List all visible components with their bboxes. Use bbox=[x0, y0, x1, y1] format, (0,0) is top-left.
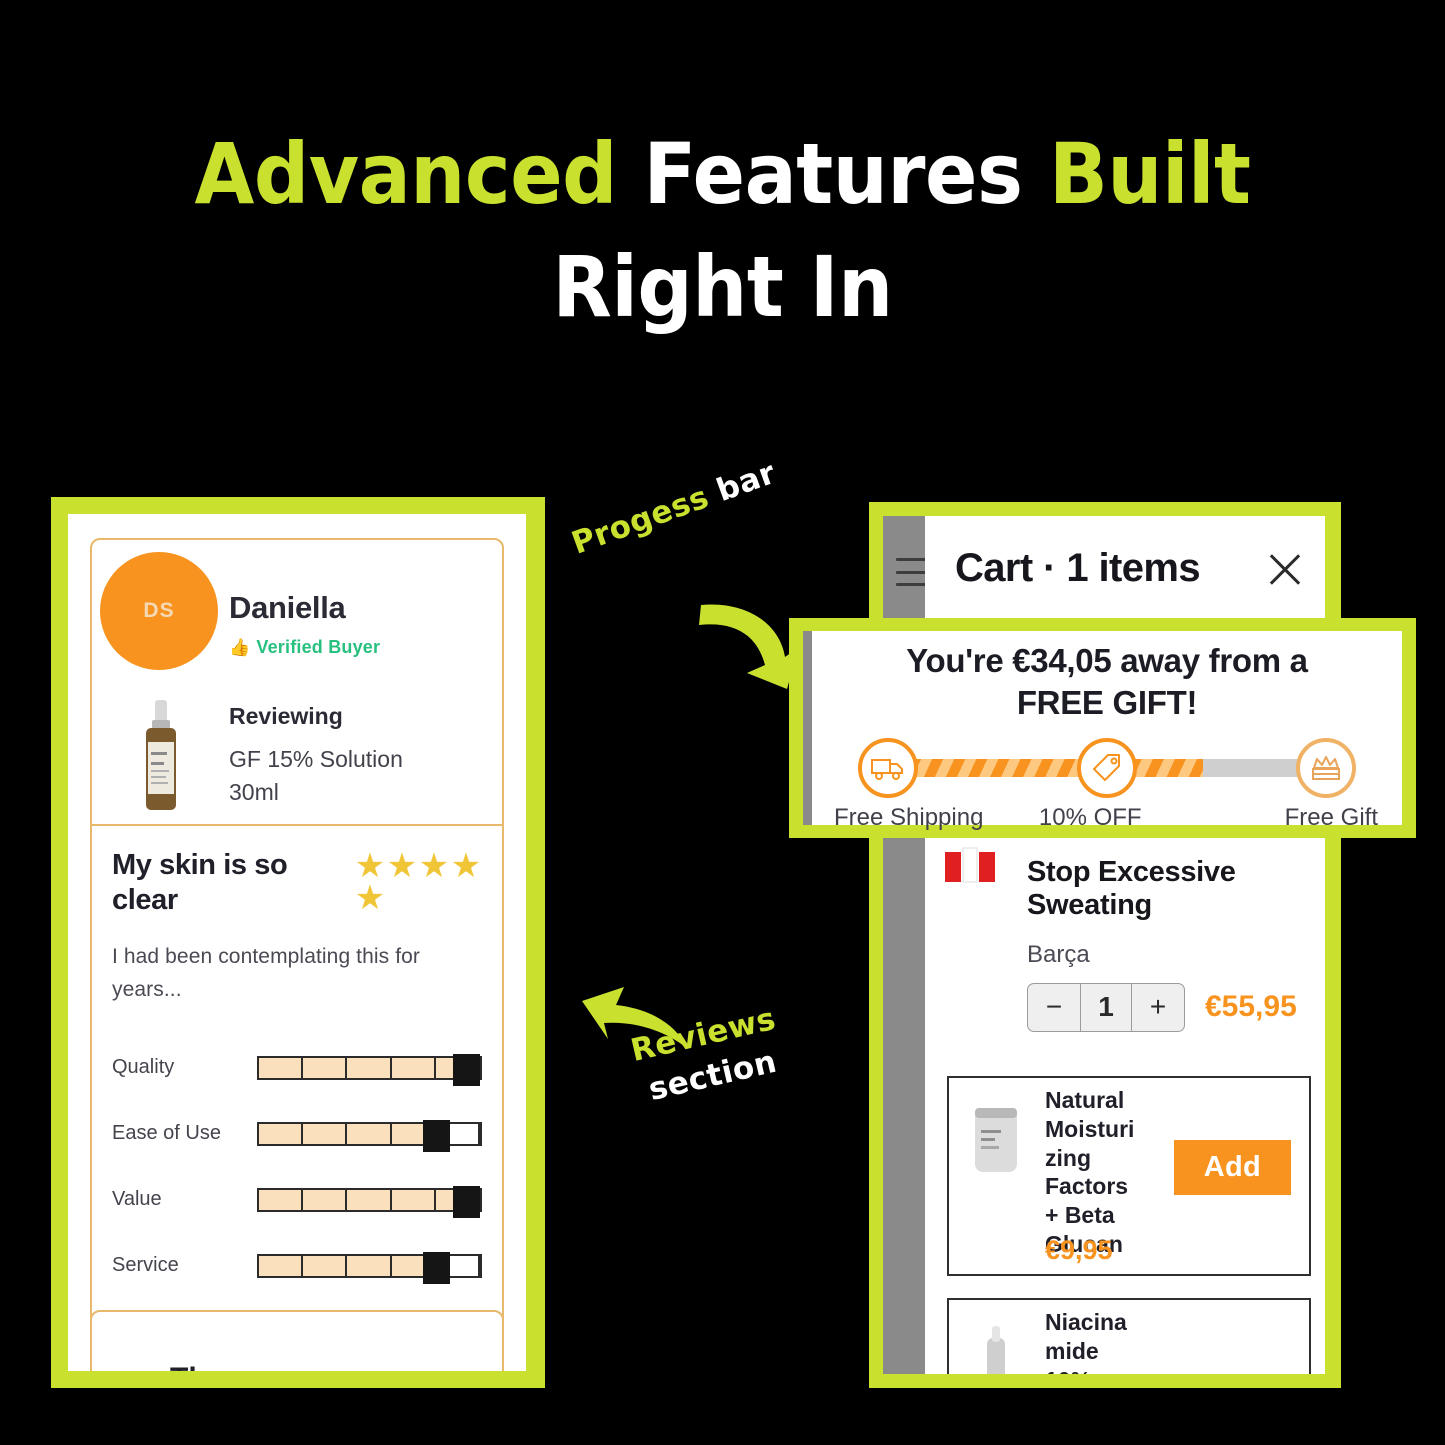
cart-line-item: Stop Excessive Sweating Barça − 1 + €55,… bbox=[955, 856, 1309, 1032]
product-bottle-image bbox=[134, 700, 188, 812]
upsell-card[interactable]: Niacina mide 10% + Add bbox=[947, 1298, 1311, 1374]
rating-breakdown: Quality Ease of Use bbox=[112, 1035, 482, 1299]
rating-slider[interactable] bbox=[257, 1254, 482, 1278]
annotation-progress-lime: Progess bbox=[567, 479, 714, 562]
rating-label: Quality bbox=[112, 1056, 257, 1079]
headline-word-features: Features bbox=[643, 125, 1048, 223]
next-review-title: The bbox=[170, 1362, 223, 1371]
reviews-panel-frame: DS Daniella 👍 Verified Buyer bbox=[51, 497, 545, 1388]
quantity-value[interactable]: 1 bbox=[1080, 984, 1132, 1031]
rating-label: Service bbox=[112, 1254, 257, 1277]
star-icon: ★ bbox=[418, 850, 450, 882]
star-icon: ★ bbox=[386, 850, 418, 882]
gift-crown-icon bbox=[1310, 754, 1342, 782]
quantity-stepper[interactable]: − 1 + bbox=[1027, 983, 1185, 1032]
free-gift-progress: You're €34,05 away from a FREE GIFT! bbox=[803, 631, 1402, 825]
rating-row: Service bbox=[112, 1233, 482, 1299]
annotation-progress-white: bar bbox=[712, 455, 781, 509]
milestone-ten-percent-off[interactable] bbox=[1077, 738, 1137, 798]
review-card-header: DS Daniella 👍 Verified Buyer bbox=[92, 540, 502, 824]
rating-row: Ease of Use bbox=[112, 1101, 482, 1167]
headline-word-built: Built bbox=[1049, 125, 1251, 223]
upsell-price: €9,95 bbox=[1045, 1235, 1113, 1266]
add-to-cart-button[interactable]: Add bbox=[1174, 1140, 1291, 1195]
product-thumbnail bbox=[967, 1324, 1025, 1374]
rating-label: Value bbox=[112, 1188, 257, 1211]
progress-headline: You're €34,05 away from a FREE GIFT! bbox=[828, 640, 1386, 724]
milestone-label-free-shipping: Free Shipping bbox=[834, 804, 983, 832]
rating-slider[interactable] bbox=[257, 1122, 482, 1146]
milestone-free-shipping[interactable] bbox=[858, 738, 918, 798]
cart-item-variant: Barça bbox=[1027, 941, 1309, 969]
verified-label: Verified Buyer bbox=[256, 637, 380, 658]
headline-word-advanced: Advanced bbox=[194, 125, 643, 223]
reviews-screen: DS Daniella 👍 Verified Buyer bbox=[68, 514, 526, 1371]
review-title: My skin is so clear bbox=[112, 848, 327, 918]
star-rating: ★ ★ ★ ★ ★ bbox=[354, 848, 482, 915]
product-thumbnail bbox=[967, 1102, 1025, 1180]
close-icon[interactable] bbox=[1263, 547, 1307, 591]
milestone-free-gift[interactable] bbox=[1296, 738, 1356, 798]
tag-icon bbox=[1092, 753, 1122, 783]
product-size: 30ml bbox=[229, 779, 279, 805]
annotation-progress-bar: Progess bar bbox=[567, 455, 781, 562]
thumbs-up-icon: 👍 bbox=[229, 639, 250, 656]
rating-row: Quality bbox=[112, 1035, 482, 1101]
avatar: DS bbox=[100, 552, 218, 670]
product-name: GF 15% Solution bbox=[229, 746, 403, 772]
rating-thumb[interactable] bbox=[423, 1120, 450, 1152]
star-icon: ★ bbox=[450, 850, 482, 882]
progress-headline-line2: FREE GIFT! bbox=[1017, 684, 1197, 721]
reviewing-label: Reviewing bbox=[229, 703, 343, 730]
cart-item-price: €55,95 bbox=[1205, 990, 1297, 1024]
upsell-card[interactable]: Natural Moisturi zing Factors + Beta Glu… bbox=[947, 1076, 1311, 1276]
truck-icon bbox=[871, 755, 905, 781]
milestone-label-free-gift: Free Gift bbox=[1285, 804, 1378, 832]
cart-item-title: Stop Excessive Sweating bbox=[1027, 856, 1272, 923]
page-title: Advanced Features Built Right In bbox=[58, 118, 1387, 343]
avatar-initials: DS bbox=[143, 599, 174, 623]
arrow-up-left-icon bbox=[578, 985, 693, 1055]
upsell-title: Natural Moisturi zing Factors + Beta Glu… bbox=[1045, 1086, 1145, 1259]
rating-thumb[interactable] bbox=[423, 1252, 450, 1284]
quantity-increment-button[interactable]: + bbox=[1132, 984, 1184, 1031]
cart-header: Cart · 1 items bbox=[955, 546, 1307, 591]
rating-slider[interactable] bbox=[257, 1188, 482, 1212]
rating-slider[interactable] bbox=[257, 1056, 482, 1080]
review-card-body: My skin is so clear ★ ★ ★ ★ ★ I had been… bbox=[92, 824, 502, 1325]
star-icon: ★ bbox=[354, 882, 386, 914]
next-review-card: The bbox=[90, 1310, 504, 1371]
rating-thumb[interactable] bbox=[453, 1186, 480, 1218]
product-thumbnail bbox=[939, 846, 1009, 906]
poster-canvas: Advanced Features Built Right In DS Dani… bbox=[0, 0, 1445, 1445]
verified-badge: 👍 Verified Buyer bbox=[229, 637, 380, 658]
progress-track-wrapper bbox=[828, 738, 1386, 800]
rating-row: Value bbox=[112, 1167, 482, 1233]
cart-title: Cart · 1 items bbox=[955, 546, 1200, 591]
headline-line-two: Right In bbox=[552, 238, 892, 336]
rating-thumb[interactable] bbox=[453, 1054, 480, 1086]
star-icon: ★ bbox=[354, 850, 386, 882]
progress-headline-line1: You're €34,05 away from a bbox=[906, 642, 1307, 679]
milestone-labels: Free Shipping 10% OFF Free Gift bbox=[828, 804, 1386, 844]
milestone-label-discount: 10% OFF bbox=[1039, 804, 1142, 832]
review-body-text: I had been contemplating this for years.… bbox=[112, 940, 482, 1007]
rating-label: Ease of Use bbox=[112, 1122, 257, 1145]
progress-bar-callout: You're €34,05 away from a FREE GIFT! bbox=[789, 618, 1416, 838]
upsell-title: Niacina mide 10% + bbox=[1045, 1308, 1145, 1374]
reviewer-name: Daniella bbox=[229, 590, 345, 626]
reviewed-product: GF 15% Solution 30ml bbox=[229, 743, 489, 810]
quantity-decrement-button[interactable]: − bbox=[1028, 984, 1080, 1031]
review-card: DS Daniella 👍 Verified Buyer bbox=[90, 538, 504, 1327]
